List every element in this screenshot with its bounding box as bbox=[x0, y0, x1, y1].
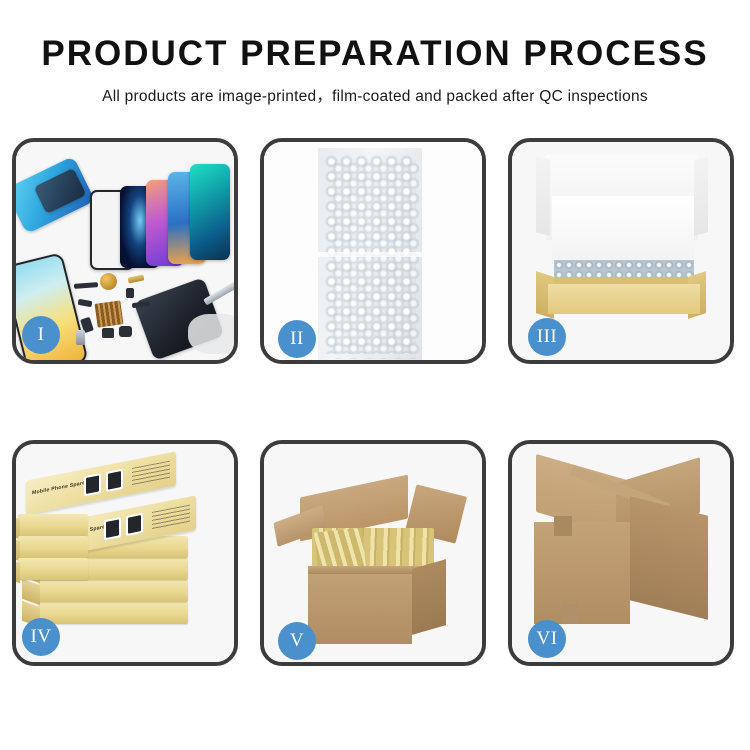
step-badge-1: I bbox=[22, 316, 60, 354]
part-strip-1 bbox=[74, 282, 98, 289]
box-interior bbox=[552, 196, 694, 264]
phone-teal-swirl bbox=[190, 164, 230, 260]
sealed-carton-front-panel bbox=[534, 522, 630, 624]
stacked-box-bottom-2 bbox=[38, 580, 188, 602]
product-preparation-infographic: PRODUCT PREPARATION PROCESS All products… bbox=[0, 0, 750, 750]
carton-side-panel bbox=[412, 559, 446, 635]
process-step-5: V bbox=[260, 440, 486, 666]
header: PRODUCT PREPARATION PROCESS All products… bbox=[0, 36, 750, 106]
part-button bbox=[126, 288, 134, 298]
speaker-module-icon bbox=[100, 273, 117, 290]
bubble-pattern-back bbox=[331, 161, 423, 359]
process-step-grid: I II III bbox=[12, 138, 738, 690]
process-step-2: II bbox=[260, 138, 486, 364]
box-front-panel bbox=[548, 284, 700, 314]
part-flex-cable-1 bbox=[78, 299, 93, 307]
process-step-3: III bbox=[508, 138, 734, 364]
box-screen-photo-2 bbox=[126, 513, 143, 536]
carton-front-panel bbox=[308, 574, 412, 644]
part-camera-module bbox=[102, 328, 114, 338]
stacked-box-back-2 bbox=[18, 536, 88, 558]
step-badge-4: IV bbox=[22, 618, 60, 656]
process-step-1: I bbox=[12, 138, 238, 364]
box-spec-lines bbox=[132, 461, 170, 487]
hand-holding-part bbox=[188, 314, 234, 354]
sealed-carton-side-panel bbox=[630, 496, 708, 619]
process-step-4: Mobile Phone Spare Parts Mobile Phone Sp… bbox=[12, 440, 238, 666]
page-subtitle: All products are image-printed，film-coat… bbox=[0, 84, 750, 106]
connector-chip-grid bbox=[94, 300, 123, 327]
step-badge-5: V bbox=[278, 622, 316, 660]
stacked-box-back-3 bbox=[18, 558, 88, 580]
box-screen-photo-1 bbox=[84, 473, 101, 496]
step-badge-6: VI bbox=[528, 620, 566, 658]
carton-flap-tab-top bbox=[554, 516, 572, 536]
box-side bbox=[16, 557, 20, 584]
part-sim-tray bbox=[76, 330, 85, 345]
box-screen-photo-2 bbox=[106, 469, 123, 492]
pouch-seam bbox=[318, 252, 422, 257]
step-badge-2: II bbox=[278, 320, 316, 358]
box-screen-photo-1 bbox=[104, 517, 121, 540]
process-step-6: VI bbox=[508, 440, 734, 666]
part-strip-gold bbox=[128, 274, 145, 283]
step-badge-3: III bbox=[528, 318, 566, 356]
stacked-box-back-1 bbox=[18, 514, 88, 536]
page-title: PRODUCT PREPARATION PROCESS bbox=[0, 36, 750, 73]
part-speaker bbox=[119, 326, 132, 337]
carton-flap-tab-bottom bbox=[562, 604, 578, 622]
stacked-box-bottom-1 bbox=[38, 602, 188, 624]
box-spec-lines bbox=[152, 505, 190, 531]
